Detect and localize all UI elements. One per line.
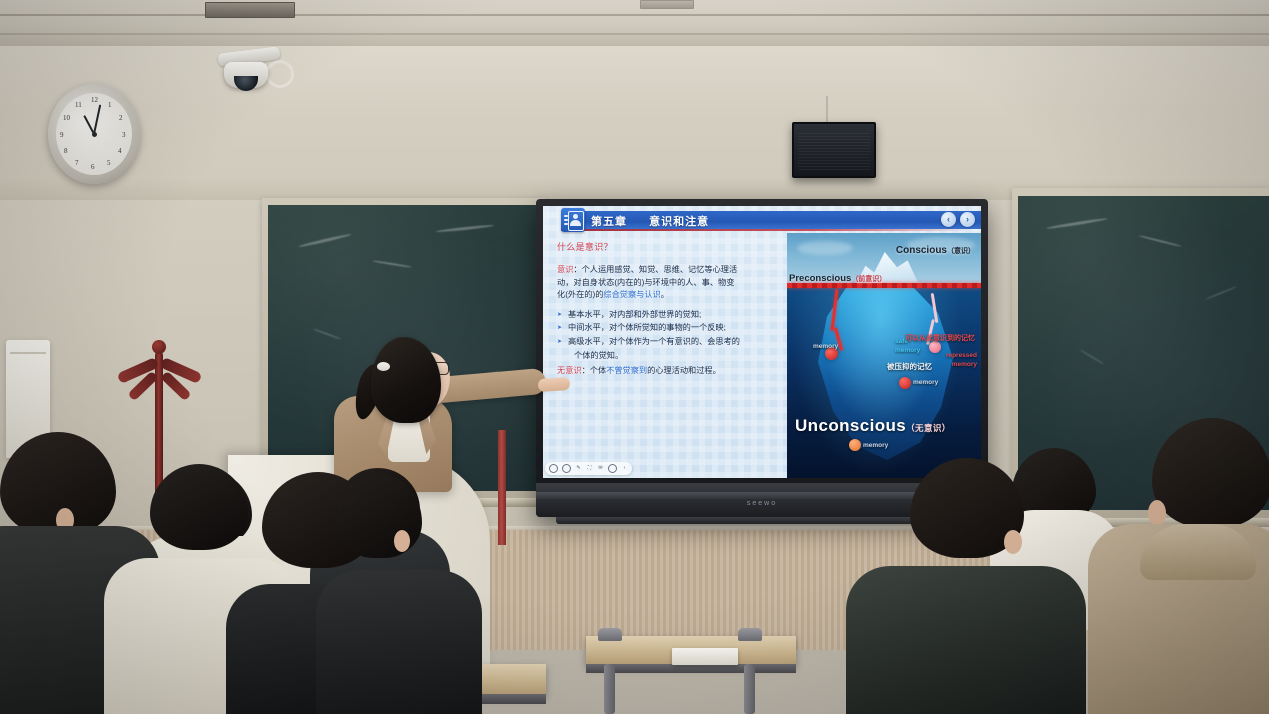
desk-post-cap xyxy=(738,628,762,641)
hoodie-hood xyxy=(1140,524,1256,580)
display-stand xyxy=(556,517,968,524)
bullet-item-continued: 个体的觉知。 xyxy=(557,350,781,363)
chalk-mark xyxy=(298,233,351,248)
clock-numeral: 7 xyxy=(75,159,79,167)
definition-paragraph: 意识：个人运用感觉、知觉、思维、记忆等心理活 动，对自身状态(内在的)与环境中的… xyxy=(557,264,781,302)
label-unconscious-en: Unconscious xyxy=(795,416,906,435)
conclusion-pre: ：个体 xyxy=(582,366,607,375)
chalk-mark xyxy=(436,224,494,233)
cloud xyxy=(797,241,853,255)
clock-numeral: 1 xyxy=(108,101,112,109)
definition-term: 意识 xyxy=(557,265,573,274)
clock-face: 12 1 2 3 4 5 6 7 8 9 10 11 xyxy=(56,93,132,175)
speaker-cable xyxy=(826,96,828,124)
desk-post xyxy=(604,664,615,714)
definition-line2: 动，对自身状态(内在的)与环境中的人、事、物变 xyxy=(557,278,734,287)
slide-body: 什么是意识？ 意识：个人运用感觉、知觉、思维、记忆等心理活 动，对自身状态(内在… xyxy=(543,233,981,478)
chalk-mark xyxy=(372,260,412,268)
clock-numeral: 9 xyxy=(60,131,64,139)
coat-rack-knob xyxy=(152,340,166,354)
desk-edge xyxy=(586,664,796,673)
ceiling-seam xyxy=(0,33,1269,35)
slide-header-underline xyxy=(561,229,977,231)
clock-numeral: 11 xyxy=(75,101,82,109)
slide-header-title: 第五章 意识和注意 xyxy=(591,213,709,229)
label-preconscious-cn: （前意识） xyxy=(851,276,886,283)
label-preconscious-en: Preconscious xyxy=(789,273,851,284)
bullet-item: 基本水平，对内部和外部世界的觉知; xyxy=(557,309,781,322)
clock-numeral: 12 xyxy=(91,96,98,104)
ceiling-vent xyxy=(640,0,694,9)
memory-dot-label: memory xyxy=(813,343,838,350)
label-repressed-memories-cn: 被压抑的记忆 xyxy=(887,361,932,372)
slide-text-column: 什么是意识？ 意识：个人运用感觉、知觉、思维、记忆等心理活 动，对自身状态(内在… xyxy=(543,233,787,478)
definition-line3-highlight: 综合觉察与认识 xyxy=(603,290,660,299)
chalk-mark xyxy=(313,328,342,340)
conclusion-highlight: 不曾觉察到 xyxy=(606,366,647,375)
notebook xyxy=(672,648,738,665)
memory-dot-label: memory xyxy=(863,442,888,449)
memory-dot-label: memory xyxy=(913,379,938,386)
student-right-dark xyxy=(316,570,482,714)
clock-numeral: 5 xyxy=(107,159,111,167)
conclusion-term: 无意识 xyxy=(557,366,582,375)
classroom-scene: 12 1 2 3 4 5 6 7 8 9 10 11 xyxy=(0,0,1269,714)
chapter-title: 意识和注意 xyxy=(649,216,709,228)
wall-speaker xyxy=(792,122,876,178)
mail-icon[interactable]: ✉ xyxy=(597,465,604,472)
id-card-person-icon xyxy=(561,208,585,232)
memory-dot xyxy=(899,377,911,389)
label-accessible-memories-cn: 可以从此意识到的记忆 xyxy=(905,333,975,343)
red-pillar xyxy=(498,430,506,545)
memory-dot xyxy=(849,439,861,451)
student-ear xyxy=(394,530,410,552)
iceberg-diagram: Conscious（意识） Preconscious（前意识） Unconsci… xyxy=(787,233,981,478)
time-icon[interactable] xyxy=(562,464,571,473)
slide-prev-button[interactable]: ‹ xyxy=(941,212,956,227)
display-screen[interactable]: 第五章 意识和注意 ‹ › 什么是意识？ 意识：个人运用感觉、知觉、思维、记 xyxy=(543,206,981,478)
interactive-display[interactable]: 第五章 意识和注意 ‹ › 什么是意识？ 意识：个人运用感觉、知觉、思维、记 xyxy=(536,199,988,517)
clock-numeral: 3 xyxy=(122,131,126,139)
slide-next-button[interactable]: › xyxy=(960,212,975,227)
ceiling-seam xyxy=(0,14,1269,16)
student-ear xyxy=(1004,530,1022,554)
slide-floating-toolbar[interactable]: ✎ ⛶ ✉ ‹ xyxy=(545,462,632,475)
presentation-slide: 第五章 意识和注意 ‹ › 什么是意识？ 意识：个人运用感觉、知觉、思维、记 xyxy=(543,206,981,478)
wall-clock: 12 1 2 3 4 5 6 7 8 9 10 11 xyxy=(48,84,140,184)
ceiling-vent xyxy=(205,2,295,18)
label-unconscious-cn: （无意识） xyxy=(906,423,951,433)
slide-nav[interactable]: ‹ › xyxy=(941,212,975,227)
clock-numeral: 6 xyxy=(91,163,95,171)
pen-icon[interactable]: ✎ xyxy=(575,465,582,472)
fullscreen-icon[interactable]: ⛶ xyxy=(586,465,593,472)
slide-bullet-list: 基本水平，对内部和外部世界的觉知; 中间水平，对个体所觉知的事物的一个反映; 高… xyxy=(557,309,781,362)
speaker-grille xyxy=(798,133,870,171)
slide-header: 第五章 意识和注意 ‹ › xyxy=(543,206,981,233)
conclusion-post: 的心理活动和过程。 xyxy=(647,366,721,375)
clock-numeral: 2 xyxy=(119,114,123,122)
student-ear xyxy=(1148,500,1166,526)
desk-post xyxy=(744,664,755,714)
clock-numeral: 10 xyxy=(63,114,70,122)
chapter-label: 第五章 xyxy=(591,216,627,228)
conclusion-paragraph: 无意识：个体不曾觉察到的心理活动和过程。 xyxy=(557,365,781,378)
display-brand: seewo xyxy=(747,500,777,507)
camera-ring xyxy=(266,60,294,88)
ceiling-dome-camera xyxy=(212,50,292,98)
label-unconscious: Unconscious（无意识） xyxy=(795,416,951,436)
clock-minute-hand xyxy=(93,104,101,134)
desk-post-cap xyxy=(598,628,622,641)
definition-line3-pre: 化(外在的)的 xyxy=(557,290,603,299)
student-right-green xyxy=(846,566,1086,714)
label-conscious: Conscious（意识） xyxy=(896,245,975,256)
bullet-item: 中间水平，对个体所觉知的事物的一个反映; xyxy=(557,322,781,335)
clock-numeral: 8 xyxy=(64,147,68,155)
cabinet-line xyxy=(10,352,46,354)
label-preconscious: Preconscious（前意识） xyxy=(789,273,886,284)
chalk-mark xyxy=(1046,217,1108,230)
slide-question: 什么是意识？ xyxy=(557,240,781,253)
record-icon[interactable] xyxy=(549,464,558,473)
chalk-mark xyxy=(1138,235,1181,248)
definition-line1: ：个人运用感觉、知觉、思维、记忆等心理活 xyxy=(573,265,737,274)
clock-hub xyxy=(92,132,97,137)
label-conscious-cn: （意识） xyxy=(947,248,975,255)
label-repressed-memory: repressed memory xyxy=(946,351,977,369)
teacher-hand-pointing xyxy=(538,377,571,392)
clock-numeral: 4 xyxy=(118,147,122,155)
chalk-mark xyxy=(1079,349,1104,365)
chalk-mark xyxy=(1205,286,1237,301)
teacher-hair-tie xyxy=(377,362,390,371)
camera-lens-dome xyxy=(234,76,258,91)
back-icon[interactable]: ‹ xyxy=(621,465,628,472)
label-conscious-en: Conscious xyxy=(896,245,947,256)
definition-line3-post: 。 xyxy=(661,290,669,299)
ceiling xyxy=(0,0,1269,46)
settings-icon[interactable] xyxy=(608,464,617,473)
bullet-item: 高级水平，对个体作为一个有意识的、会思考的 xyxy=(557,336,781,349)
